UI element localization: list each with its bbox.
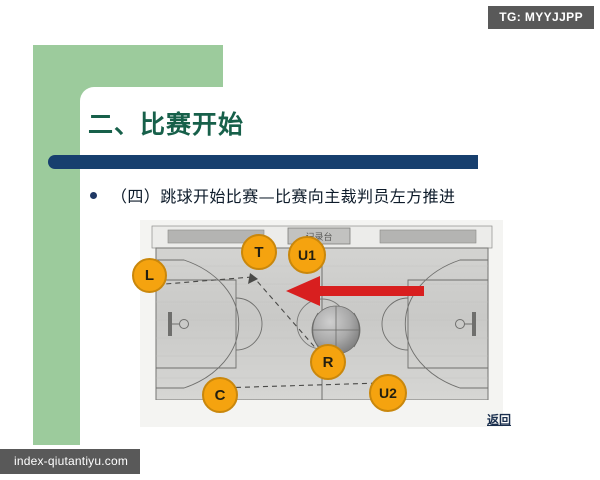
bullet-dot-icon: [90, 192, 97, 199]
return-link[interactable]: 返回: [487, 411, 511, 428]
bullet-row: （四）跳球开始比赛—比赛向主裁判员左方推进: [90, 183, 455, 207]
page-title: 二、比赛开始: [88, 105, 244, 141]
site-watermark: index-qiutantiyu.com: [0, 449, 140, 474]
bullet-text: （四）跳球开始比赛—比赛向主裁判员左方推进: [111, 183, 455, 207]
referee-marker-C: C: [202, 377, 238, 413]
referee-marker-U2: U2: [369, 374, 407, 412]
slide-canvas: 二、比赛开始 （四）跳球开始比赛—比赛向主裁判员左方推进: [0, 0, 600, 480]
referee-marker-L: L: [132, 258, 167, 293]
green-accent-horizontal-bar: [33, 45, 223, 90]
referee-marker-U1: U1: [288, 236, 326, 274]
referee-marker-R: R: [310, 344, 346, 380]
title-underline-bar: [48, 155, 478, 169]
referee-marker-T: T: [241, 234, 277, 270]
telegram-tag-overlay: TG: MYYJJPP: [488, 6, 594, 29]
